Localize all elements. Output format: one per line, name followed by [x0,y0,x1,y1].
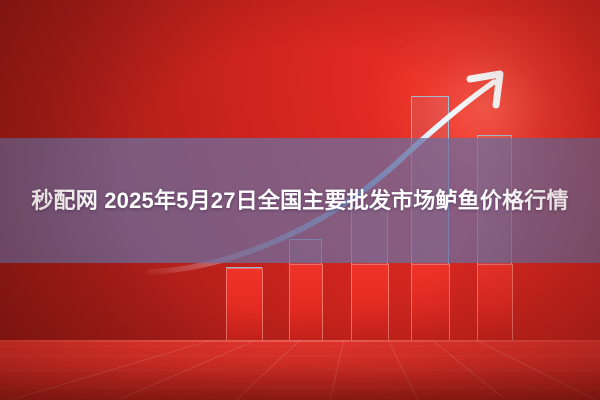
perspective-floor [0,340,600,400]
title-band: 秒配网 2025年5月27日全国主要批发市场鲈鱼价格行情 [0,138,600,263]
bar-3-fill [351,264,389,341]
page-title: 秒配网 2025年5月27日全国主要批发市场鲈鱼价格行情 [20,185,580,216]
banner-image: 秒配网 2025年5月27日全国主要批发市场鲈鱼价格行情 [0,0,600,400]
bar-5-fill [477,264,513,341]
bar-1-fill [226,268,263,341]
bar-2-fill [289,264,323,341]
bar-1 [226,267,262,340]
bar-4-fill [411,264,450,341]
floor-shading [0,340,600,400]
